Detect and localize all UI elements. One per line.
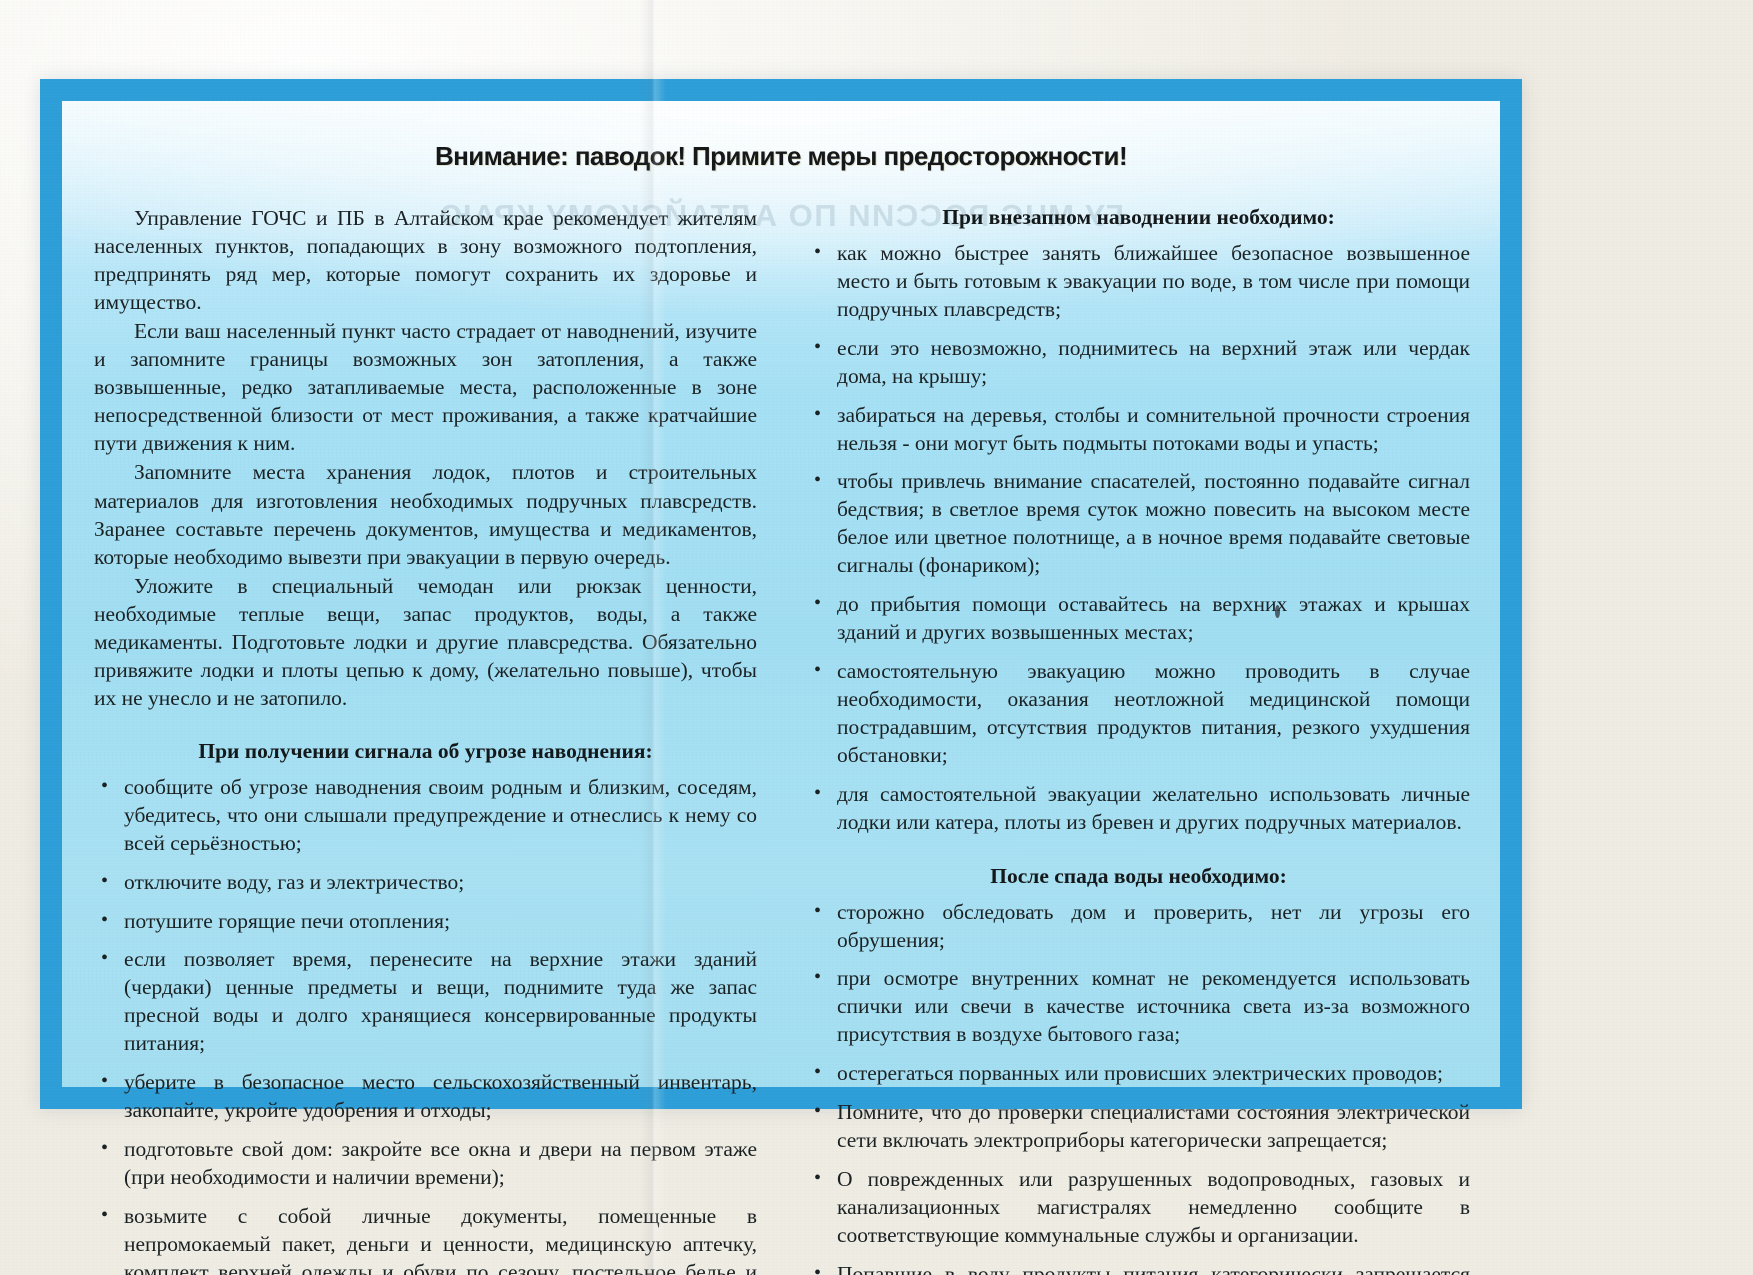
list-item: подготовьте свой дом: закройте все окна … (94, 1136, 757, 1192)
section-heading-after-water-recedes: После спада воды необходимо: (807, 863, 1470, 890)
page-title: Внимание: паводок! Примите меры предосто… (62, 143, 1500, 170)
sudden-flood-list: как можно быстрее занять ближайшее безоп… (807, 240, 1470, 837)
flood-warning-signal-list: сообщите об угрозе наводнения своим родн… (94, 774, 757, 1275)
list-item: возьмите с собой личные документы, помещ… (94, 1203, 757, 1275)
list-item: до прибытия помощи оставайтесь на верхни… (807, 591, 1470, 647)
poster-frame: ГУ МЧС РОССИИ ПО АЛТАЙСКОМУ КРАЮ Внимани… (40, 79, 1522, 1109)
list-item: Помните, что до проверки специалистами с… (807, 1099, 1470, 1155)
right-column: При внезапном наводнении необходимо: как… (805, 204, 1470, 1275)
list-item: остерегаться порванных или провисших эле… (807, 1060, 1470, 1088)
list-item: потушите горящие печи отопления; (94, 908, 757, 936)
list-item: уберите в безопасное место сельскохозяйс… (94, 1069, 757, 1125)
poster-scan: ГУ МЧС РОССИИ ПО АЛТАЙСКОМУ КРАЮ Внимани… (0, 0, 1753, 1275)
left-column: Управление ГОЧС и ПБ в Алтайском крае ре… (94, 204, 759, 1275)
list-item: Попавшие в воду продукты питания категор… (807, 1261, 1470, 1275)
intro-paragraph: Если ваш населенный пункт часто страдает… (94, 317, 757, 457)
intro-paragraph: Запомните места хранения лодок, плотов и… (94, 458, 757, 570)
after-water-recedes-list: сторожно обследовать дом и проверить, не… (807, 899, 1470, 1275)
list-item: сторожно обследовать дом и проверить, не… (807, 899, 1470, 955)
list-item: для самостоятельной эвакуации желательно… (807, 781, 1470, 837)
list-item: при осмотре внутренних комнат не рекомен… (807, 965, 1470, 1049)
intro-paragraph: Управление ГОЧС и ПБ в Алтайском крае ре… (94, 204, 757, 316)
list-item: если позволяет время, перенесите на верх… (94, 946, 757, 1058)
intro-paragraph: Уложите в специальный чемодан или рюкзак… (94, 572, 757, 712)
list-item: забираться на деревья, столбы и сомнител… (807, 402, 1470, 458)
list-item: если это невозможно, поднимитесь на верх… (807, 335, 1470, 391)
section-heading-sudden-flood: При внезапном наводнении необходимо: (807, 204, 1470, 231)
list-item: сообщите об угрозе наводнения своим родн… (94, 774, 757, 858)
section-heading-flood-warning-signal: При получении сигнала об угрозе наводнен… (94, 738, 757, 765)
list-item: отключите воду, газ и электричество; (94, 869, 757, 897)
list-item: О поврежденных или разрушенных водопрово… (807, 1166, 1470, 1250)
content-columns: Управление ГОЧС и ПБ в Алтайском крае ре… (62, 170, 1500, 1275)
list-item: самостоятельную эвакуацию можно проводит… (807, 658, 1470, 770)
list-item: чтобы привлечь внимание спасателей, пост… (807, 468, 1470, 580)
list-item: как можно быстрее занять ближайшее безоп… (807, 240, 1470, 324)
